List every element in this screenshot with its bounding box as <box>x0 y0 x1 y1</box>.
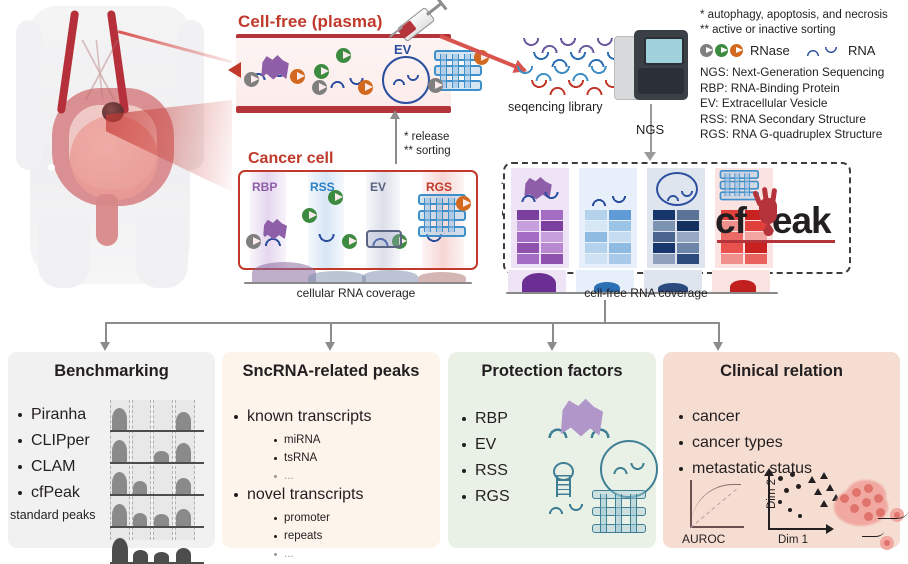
panel-sncrna-title: SncRNA-related peaks <box>222 362 440 381</box>
protection-item-rbp[interactable]: RBP <box>462 410 508 428</box>
plasma-rss-molecule <box>310 48 374 94</box>
bullet-dot <box>679 441 683 445</box>
blood-drop-hand-icon <box>755 188 781 232</box>
bullet-dot <box>234 415 238 419</box>
bullet-dot <box>462 495 466 499</box>
connector-drop-3 <box>552 322 554 344</box>
benchmark-item-cfpeak[interactable]: cfPeak <box>18 484 80 502</box>
rnase-icon-gray <box>700 44 713 57</box>
definition-rss: RSS: RNA Secondary Structure <box>700 112 904 128</box>
connector-arrow-1 <box>100 342 110 351</box>
panel-sncrna: SncRNA-related peaks known transcripts m… <box>222 352 440 548</box>
dim1-axis-label: Dim 1 <box>778 534 808 546</box>
bullet-dot <box>18 491 22 495</box>
benchmark-label-cfpeak: cfPeak <box>31 484 80 502</box>
auroc-label: AUROC <box>682 532 725 546</box>
track-standard-peaks <box>110 536 204 564</box>
benchmark-footer-label: standard peaks <box>10 508 95 522</box>
bullet-dot <box>462 469 466 473</box>
bullet-dot <box>274 553 277 556</box>
legend-icons-row: RNase RNA <box>700 41 904 61</box>
release-arrow-head <box>390 110 400 119</box>
protection-label-rbp: RBP <box>475 410 508 428</box>
rna-legend-label: RNA <box>848 43 875 58</box>
vein-network-icon <box>64 40 136 100</box>
sncrna-novel-child-repeats[interactable]: repeats <box>274 530 322 542</box>
benchmark-item-clam[interactable]: CLAM <box>18 458 75 476</box>
sncrna-known-child-more-label: ... <box>284 470 294 482</box>
panel-clinical-title: Clinical relation <box>663 362 900 381</box>
panel-protection: Protection factors RBP EV RSS RGS <box>448 352 656 548</box>
panel-benchmarking-title: Benchmarking <box>8 362 215 381</box>
cancer-cell-title: Cancer cell <box>248 150 333 168</box>
definition-rgs: RGS: RNA G-quadruplex Structure <box>700 127 904 143</box>
connector-drop-2 <box>330 322 332 344</box>
track-piranha <box>110 406 204 432</box>
bullet-dot <box>234 493 238 497</box>
bullet-dot <box>462 443 466 447</box>
cell-rnase-green-2 <box>302 208 317 223</box>
plasma-ev-molecule: EV <box>380 46 430 98</box>
clinical-item-cancer[interactable]: cancer <box>679 408 740 426</box>
cellular-coverage-caption: cellular RNA coverage <box>238 286 474 300</box>
heatmap-cells-rss <box>585 210 631 264</box>
ngs-label: NGS <box>636 122 664 137</box>
legend-block: * autophagy, apoptosis, and necrosis ** … <box>700 8 904 143</box>
bullet-dot <box>274 475 277 478</box>
cell-rnase-gray-1 <box>246 234 261 249</box>
dim2-axis-label: Dim 2 <box>766 474 778 514</box>
bullet-dot <box>18 465 22 469</box>
bullet-dot <box>274 517 277 520</box>
heatmap-cells-ev <box>653 210 699 264</box>
protection-rss-icon <box>544 462 578 508</box>
rnase-legend-label: RNase <box>750 43 790 58</box>
ngs-sequencer-icon <box>614 30 688 100</box>
sequencing-library-label: seqencing library <box>508 100 603 114</box>
sncrna-known-child-more[interactable]: ... <box>274 470 294 482</box>
definition-ngs: NGS: Next-Generation Sequencing <box>700 65 904 81</box>
heatmap-group-rss <box>579 168 637 268</box>
sncrna-known-child-mirna-label: miRNA <box>284 434 320 446</box>
heatmap-group-rbp <box>511 168 569 268</box>
definition-rbp: RBP: RNA-Binding Protein <box>700 81 904 97</box>
sncrna-group-novel-label: novel transcripts <box>247 486 364 504</box>
auroc-chart <box>686 480 748 532</box>
metastasis-arrow-2 <box>862 522 884 537</box>
metastatic-cell-nucleus <box>884 540 890 546</box>
benchmark-item-clipper[interactable]: CLIPper <box>18 432 90 450</box>
protection-rss-tail <box>546 504 586 514</box>
plasma-rbp-molecule <box>244 52 306 88</box>
band-label-rbp: RBP <box>252 180 277 194</box>
ngs-arrow-head <box>644 152 656 161</box>
cell-rnase-orange <box>456 196 471 211</box>
bullet-dot <box>462 417 466 421</box>
cancer-cell-box: RBP RSS EV RGS <box>238 170 478 270</box>
footnote-release: * autophagy, apoptosis, and necrosis <box>700 8 904 23</box>
definition-ev: EV: Extracellular Vesicle <box>700 96 904 112</box>
bullet-dot <box>274 439 277 442</box>
syringe-icon <box>392 2 448 46</box>
bullet-dot <box>274 535 277 538</box>
sncrna-novel-child-promoter[interactable]: promoter <box>274 512 330 524</box>
band-label-rgs: RGS <box>426 180 452 194</box>
protection-item-rss[interactable]: RSS <box>462 462 508 480</box>
connector-arrow-2 <box>325 342 335 351</box>
rectum-icon <box>96 194 118 246</box>
sncrna-group-novel[interactable]: novel transcripts <box>234 486 364 504</box>
plasma-title: Cell-free (plasma) <box>238 12 382 32</box>
cfpeak-prefix: cf <box>715 200 746 241</box>
connector-drop-1 <box>105 322 107 344</box>
bullet-dot <box>679 467 683 471</box>
rnase-icon-green <box>715 44 728 57</box>
connector-drop-4 <box>718 322 720 344</box>
footnote-sorting: ** active or inactive sorting <box>700 23 904 38</box>
benchmark-item-piranha[interactable]: Piranha <box>18 406 86 424</box>
protection-label-ev: EV <box>475 436 496 454</box>
sncrna-group-known[interactable]: known transcripts <box>234 408 372 426</box>
sncrna-novel-child-promoter-label: promoter <box>284 512 330 524</box>
heatmap-cells-rbp <box>517 210 563 264</box>
cell-rnase-green-1 <box>328 190 343 205</box>
clinical-label-cancer-types: cancer types <box>692 434 783 452</box>
panel-protection-title: Protection factors <box>448 362 656 381</box>
cellular-coverage-profile <box>238 258 474 284</box>
sncrna-known-child-mirna[interactable]: miRNA <box>274 434 320 446</box>
cfpeak-underline <box>717 240 835 243</box>
sorting-note: ** sorting <box>404 144 451 158</box>
rnase-icon-orange <box>730 44 743 57</box>
sncrna-known-child-tsrna-label: tsRNA <box>284 452 317 464</box>
cell-rnase-green-3 <box>342 234 357 249</box>
band-label-ev: EV <box>370 180 386 194</box>
connector-arrow-4 <box>713 342 723 351</box>
bullet-dot <box>679 415 683 419</box>
connector-stem <box>604 300 606 324</box>
protection-label-rss: RSS <box>475 462 508 480</box>
release-note: * release <box>404 130 451 144</box>
marker-dot <box>48 164 55 171</box>
connector-bus <box>105 322 720 324</box>
benchmark-label-clipper: CLIPper <box>31 432 90 450</box>
leg-left <box>38 218 90 288</box>
cfpeak-logo: cfeak <box>715 190 839 252</box>
connector-arrow-3 <box>547 342 557 351</box>
heatmap-group-ev <box>647 168 705 268</box>
cell-ev-segment <box>366 230 402 248</box>
sncrna-novel-child-more-label: ... <box>284 548 294 560</box>
heatmap-panel: cfeak <box>503 162 851 274</box>
clinical-label-cancer: cancer <box>692 408 740 426</box>
benchmark-label-clam: CLAM <box>31 458 75 476</box>
clinical-item-cancer-types[interactable]: cancer types <box>679 434 783 452</box>
track-cfpeak <box>110 502 204 528</box>
protection-label-rgs: RGS <box>475 488 510 506</box>
leg-right <box>136 218 188 288</box>
transfer-notes: * release ** sorting <box>404 130 451 158</box>
cellfree-coverage-caption: cell-free RNA coverage <box>506 286 786 300</box>
plasma-inflow-arrow <box>228 62 241 78</box>
bullet-dot <box>18 439 22 443</box>
sncrna-novel-child-repeats-label: repeats <box>284 530 322 542</box>
sncrna-group-known-label: known transcripts <box>247 408 372 426</box>
plasma-vessel-wall-bottom <box>236 106 451 113</box>
panel-benchmarking: Benchmarking Piranha CLIPper CLAM cfPeak… <box>8 352 215 548</box>
bullet-dot <box>274 457 277 460</box>
bullet-dot <box>18 413 22 417</box>
plasma-channel: EV <box>236 38 451 106</box>
protection-item-ev[interactable]: EV <box>462 436 496 454</box>
rna-wave-icon <box>804 47 840 56</box>
protection-rgs-icon <box>590 490 648 540</box>
benchmark-tracks <box>110 400 208 540</box>
benchmark-label-piranha: Piranha <box>31 406 86 424</box>
track-clam <box>110 470 204 496</box>
release-arrow-shaft <box>395 118 397 164</box>
sncrna-known-child-tsrna[interactable]: tsRNA <box>274 452 317 464</box>
sncrna-novel-child-more[interactable]: ... <box>274 548 294 560</box>
protection-item-rgs[interactable]: RGS <box>462 488 510 506</box>
track-clipper <box>110 438 204 464</box>
sequencing-library-icon <box>512 38 627 96</box>
